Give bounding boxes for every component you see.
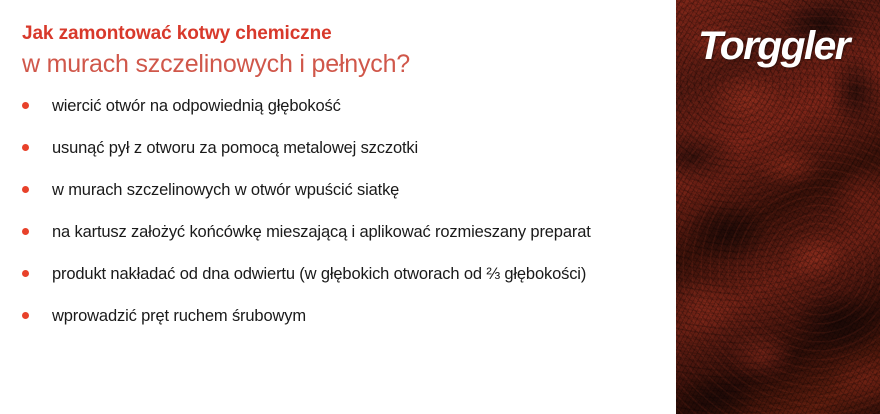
- list-item-label: produkt nakładać od dna odwiertu (w głęb…: [52, 265, 586, 283]
- list-item-label: wiercić otwór na odpowiednią głębokość: [52, 97, 341, 115]
- bullet-dot-icon: [22, 144, 29, 151]
- title-line-secondary: w murach szczelinowych i pełnych?: [22, 48, 666, 80]
- list-item: wprowadzić pręt ruchem śrubowym: [22, 304, 666, 328]
- list-item-label: wprowadzić pręt ruchem śrubowym: [52, 307, 306, 325]
- list-item-label: na kartusz założyć końcówkę mieszającą i…: [52, 223, 591, 241]
- list-item: produkt nakładać od dna odwiertu (w głęb…: [22, 262, 666, 286]
- page-title: Jak zamontować kotwy chemiczne w murach …: [22, 22, 666, 80]
- list-item: usunąć pył z otworu za pomocą metalowej …: [22, 136, 666, 160]
- bullet-dot-icon: [22, 102, 29, 109]
- brand-texture-panel: Torggler: [676, 0, 880, 414]
- bullet-dot-icon: [22, 270, 29, 277]
- torggler-logo: Torggler: [698, 26, 849, 66]
- instruction-list: wiercić otwór na odpowiednią głębokość u…: [22, 94, 666, 328]
- title-line-primary: Jak zamontować kotwy chemiczne: [22, 22, 666, 46]
- bullet-dot-icon: [22, 186, 29, 193]
- content-area: Jak zamontować kotwy chemiczne w murach …: [0, 0, 676, 414]
- bullet-dot-icon: [22, 228, 29, 235]
- list-item: w murach szczelinowych w otwór wpuścić s…: [22, 178, 666, 202]
- list-item: wiercić otwór na odpowiednią głębokość: [22, 94, 666, 118]
- bullet-dot-icon: [22, 312, 29, 319]
- slide-root: Jak zamontować kotwy chemiczne w murach …: [0, 0, 880, 414]
- list-item: na kartusz założyć końcówkę mieszającą i…: [22, 220, 666, 244]
- list-item-label: w murach szczelinowych w otwór wpuścić s…: [52, 181, 399, 199]
- list-item-label: usunąć pył z otworu za pomocą metalowej …: [52, 139, 418, 157]
